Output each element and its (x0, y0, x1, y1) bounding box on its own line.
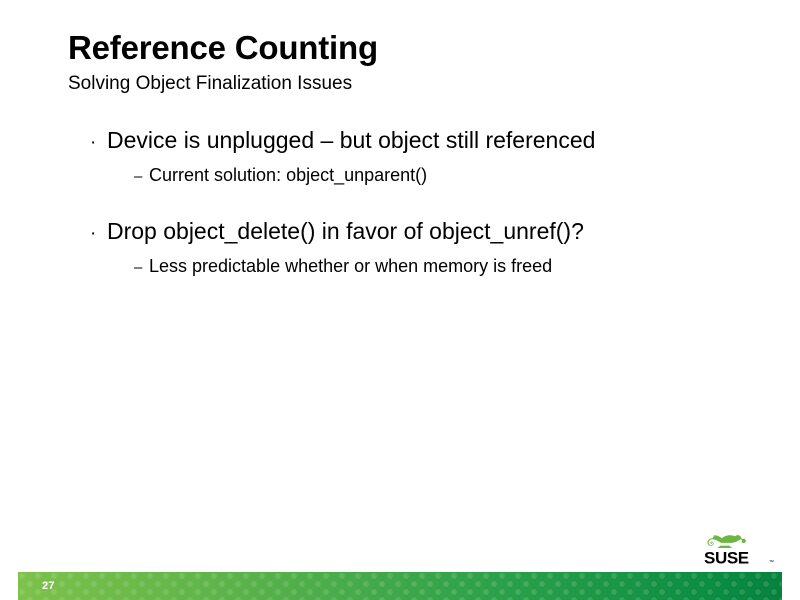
footer-bar: 27 (18, 572, 782, 600)
bullet-text: Device is unplugged – but object still r… (107, 126, 760, 156)
suse-logo: SUSE ™ (700, 524, 782, 568)
bullet-marker-icon: · (90, 224, 107, 243)
bullet-marker-icon: · (90, 133, 107, 152)
bullet-group-spacer (90, 199, 760, 217)
sub-bullet-marker-icon: – (134, 260, 149, 275)
title-block: Reference Counting Solving Object Finali… (68, 30, 768, 96)
page-title: Reference Counting (68, 30, 768, 67)
slide-body: · Device is unplugged – but object still… (90, 126, 760, 291)
sub-bullet-item: – Less predictable whether or when memor… (134, 255, 760, 278)
sub-bullet-text: Current solution: object_unparent() (149, 164, 760, 187)
suse-chameleon-icon (707, 535, 746, 548)
suse-wordmark-text: SUSE (704, 549, 749, 568)
suse-wordmark: SUSE ™ (704, 549, 774, 568)
bullet-text: Drop object_delete() in favor of object_… (107, 217, 760, 247)
sub-bullet-text: Less predictable whether or when memory … (149, 255, 760, 278)
page-subtitle: Solving Object Finalization Issues (68, 73, 768, 96)
bullet-item: · Device is unplugged – but object still… (90, 126, 760, 156)
suse-trademark-text: ™ (769, 560, 774, 566)
bullet-group: · Device is unplugged – but object still… (90, 126, 760, 187)
bullet-item: · Drop object_delete() in favor of objec… (90, 217, 760, 247)
page-number: 27 (42, 572, 55, 600)
sub-bullet-marker-icon: – (134, 169, 149, 184)
bullet-group: · Drop object_delete() in favor of objec… (90, 217, 760, 278)
slide: Reference Counting Solving Object Finali… (0, 0, 800, 600)
sub-bullet-item: – Current solution: object_unparent() (134, 164, 760, 187)
